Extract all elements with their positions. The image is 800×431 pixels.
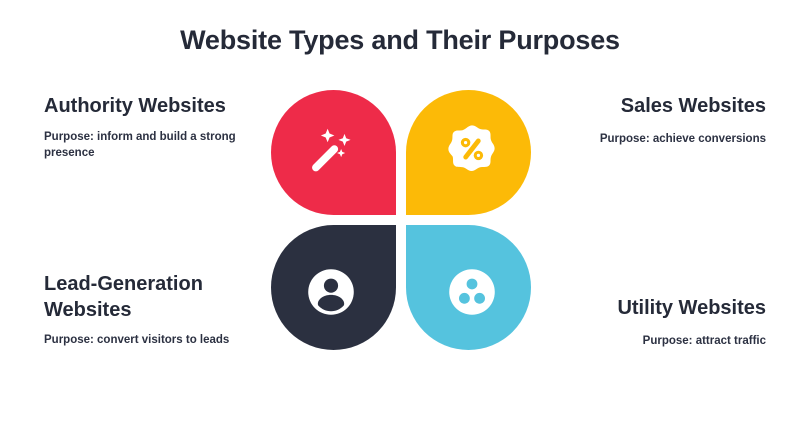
label-description-sales: Purpose: achieve conversions xyxy=(531,131,766,147)
quadrant-petal-authority[interactable] xyxy=(271,90,396,215)
label-title-lead-generation: Lead-Generation Websites xyxy=(44,272,254,323)
magic-wand-icon xyxy=(304,122,358,176)
label-block-sales: Sales Websites Purpose: achieve conversi… xyxy=(531,94,766,147)
label-description-lead-generation: Purpose: convert visitors to leads xyxy=(44,332,254,348)
label-block-lead-generation: Lead-Generation Websites Purpose: conver… xyxy=(44,272,254,349)
label-title-authority: Authority Websites xyxy=(44,94,269,120)
label-description-utility: Purpose: attract traffic xyxy=(531,333,766,349)
page-title: Website Types and Their Purposes xyxy=(0,25,800,56)
quadrant-petal-lead-generation[interactable] xyxy=(271,225,396,350)
quadrant-petal-utility[interactable] xyxy=(406,225,531,350)
label-title-utility: Utility Websites xyxy=(531,296,766,322)
label-block-authority: Authority Websites Purpose: inform and b… xyxy=(44,94,269,161)
quadrant-petal-sales[interactable] xyxy=(406,90,531,215)
user-circle-icon xyxy=(304,265,358,319)
quadrant-diagram xyxy=(271,90,531,350)
label-description-authority: Purpose: inform and build a strong prese… xyxy=(44,129,269,162)
label-block-utility: Utility Websites Purpose: attract traffi… xyxy=(531,296,766,349)
label-title-sales: Sales Websites xyxy=(531,94,766,120)
three-dots-circle-icon xyxy=(445,265,499,319)
percent-badge-icon xyxy=(445,122,499,176)
